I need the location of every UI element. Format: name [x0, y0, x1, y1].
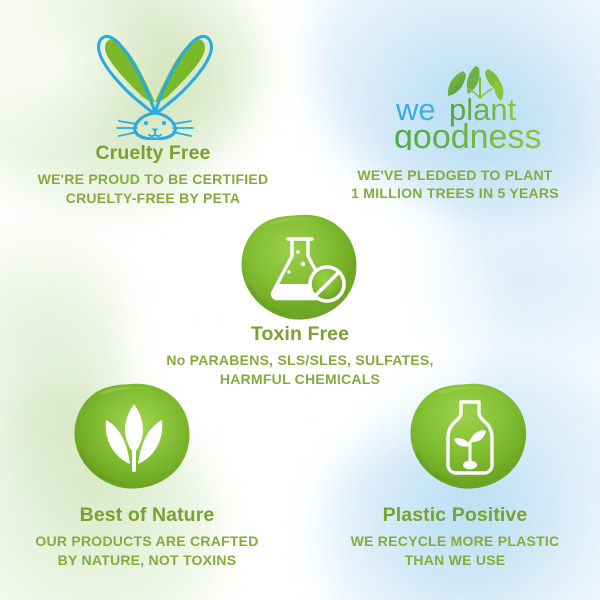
badge-plastic-positive: Plastic Positive WE RECYCLE MORE PLASTIC… — [316, 504, 594, 569]
badge-title: Toxin Free — [160, 323, 440, 345]
eco-claims-infographic: Cruelty Free WE'RE PROUD TO BE CERTIFIED… — [0, 0, 600, 600]
we-plant-goodness-logo: we plant goodness — [390, 58, 568, 150]
peta-bunny-icon — [95, 14, 215, 140]
badge-description: OUR PRODUCTS ARE CRAFTED BY NATURE, NOT … — [8, 532, 286, 569]
badge-best-of-nature: Best of Nature OUR PRODUCTS ARE CRAFTED … — [8, 504, 286, 569]
bottle-sprout-icon — [408, 382, 532, 494]
logo-word-goodness: goodness — [394, 118, 541, 150]
badge-title: Best of Nature — [8, 504, 286, 526]
badge-we-plant-goodness: WE'VE PLEDGED TO PLANT 1 MILLION TREES I… — [316, 166, 594, 203]
badge-title: Plastic Positive — [316, 504, 594, 526]
flask-prohibited-icon — [238, 212, 362, 324]
badge-title: Cruelty Free — [8, 142, 298, 164]
three-leaves-icon — [72, 382, 196, 494]
badge-description: WE RECYCLE MORE PLASTIC THAN WE USE — [316, 532, 594, 569]
badge-toxin-free: Toxin Free No PARABENS, SLS/SLES, SULFAT… — [160, 323, 440, 388]
badge-description: WE'RE PROUD TO BE CERTIFIED CRUELTY-FREE… — [8, 170, 298, 207]
badge-description: WE'VE PLEDGED TO PLANT 1 MILLION TREES I… — [316, 166, 594, 203]
badge-description: No PARABENS, SLS/SLES, SULFATES, HARMFUL… — [160, 351, 440, 388]
badge-cruelty-free: Cruelty Free WE'RE PROUD TO BE CERTIFIED… — [8, 142, 298, 207]
